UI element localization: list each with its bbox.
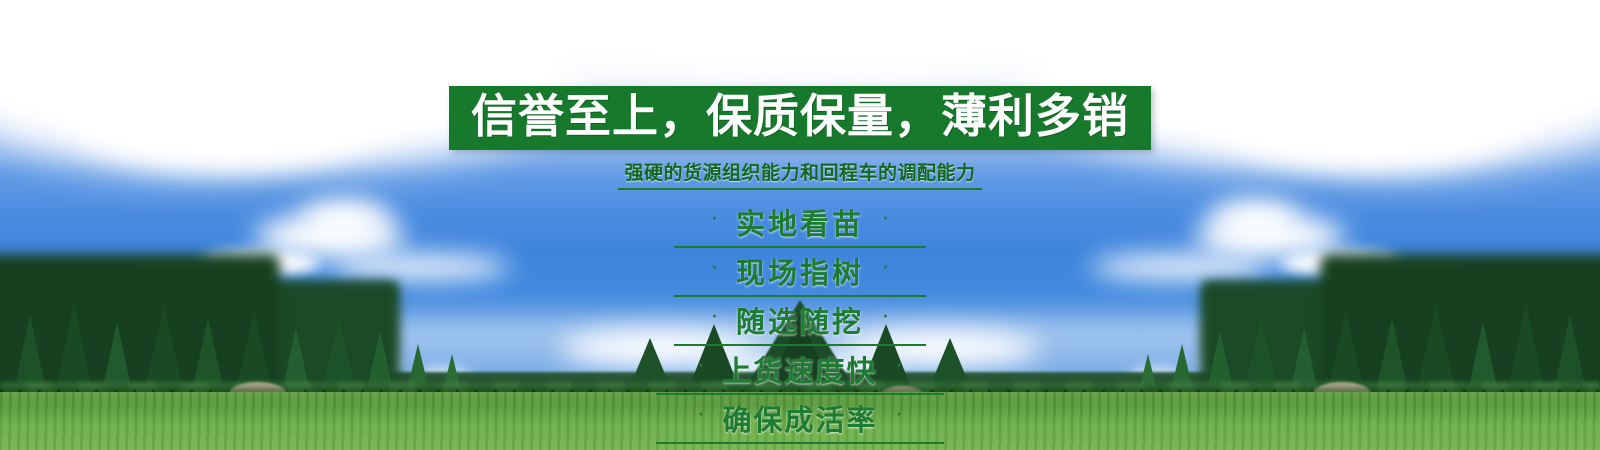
bullet-dot-icon: · bbox=[711, 307, 718, 329]
bullet-dot-icon: · bbox=[711, 209, 718, 231]
feature-label: 实地看苗 bbox=[736, 201, 864, 243]
headline-bar: 信誉至上，保质保量，薄利多销 bbox=[449, 86, 1151, 150]
feature-label: 上货速度快 bbox=[722, 348, 877, 390]
feature-item: · 上货速度快 · bbox=[656, 346, 944, 395]
promo-banner: 信誉至上，保质保量，薄利多销 强硬的货源组织能力和回程车的调配能力 · 实地看苗… bbox=[0, 0, 1600, 450]
headline-text: 信誉至上，保质保量，薄利多销 bbox=[471, 93, 1129, 139]
banner-content: 信誉至上，保质保量，薄利多销 强硬的货源组织能力和回程车的调配能力 · 实地看苗… bbox=[0, 0, 1600, 450]
bullet-dot-icon: · bbox=[882, 258, 889, 280]
subtitle-text: 强硬的货源组织能力和回程车的调配能力 bbox=[618, 158, 981, 190]
bullet-dot-icon: · bbox=[896, 405, 903, 427]
feature-label: 现场指树 bbox=[736, 250, 864, 292]
feature-item: · 现场指树 · bbox=[674, 248, 926, 297]
bullet-dot-icon: · bbox=[882, 209, 889, 231]
feature-label: 确保成活率 bbox=[722, 397, 877, 439]
bullet-dot-icon: · bbox=[697, 356, 704, 378]
feature-item: · 确保成活率 · bbox=[656, 395, 944, 444]
feature-item: · 实地看苗 · bbox=[674, 199, 926, 248]
bullet-dot-icon: · bbox=[711, 258, 718, 280]
bullet-dot-icon: · bbox=[697, 405, 704, 427]
bullet-dot-icon: · bbox=[896, 356, 903, 378]
feature-item: · 随选随挖 · bbox=[674, 297, 926, 346]
feature-label: 随选随挖 bbox=[736, 299, 864, 341]
feature-list: · 实地看苗 · · 现场指树 · · 随选随挖 · · 上货速度快 · · bbox=[656, 199, 944, 444]
bullet-dot-icon: · bbox=[882, 307, 889, 329]
